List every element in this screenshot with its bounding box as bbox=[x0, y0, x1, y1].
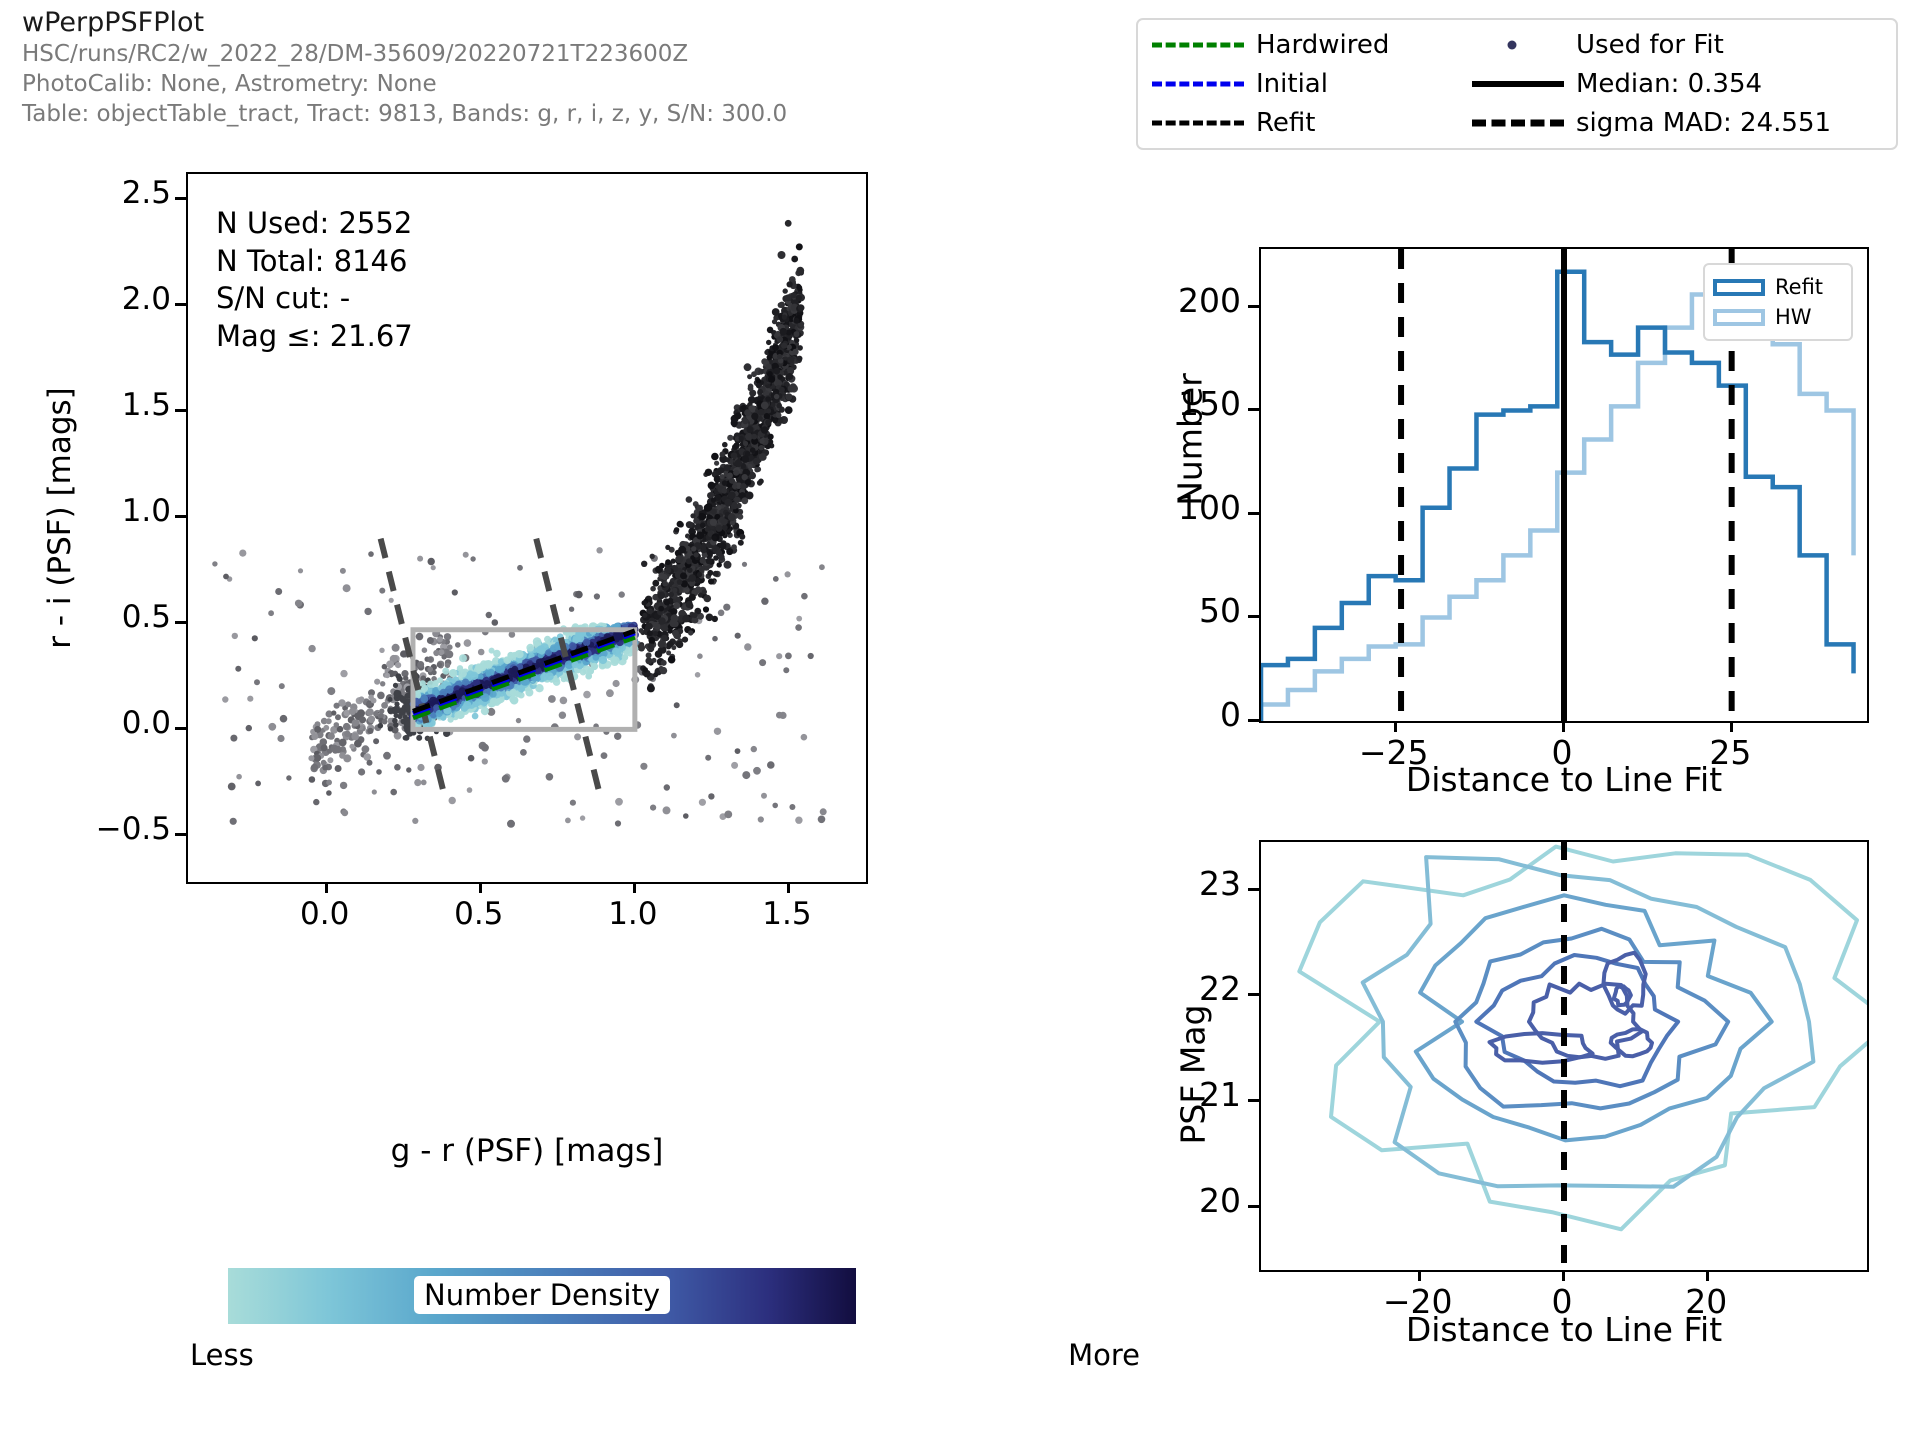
main-x-tickmark bbox=[633, 882, 636, 893]
header-subline-table: Table: objectTable_tract, Tract: 9813, B… bbox=[22, 100, 922, 130]
stat-sn-cut: S/N cut: - bbox=[216, 280, 413, 318]
histogram-y-tick: 0 bbox=[1091, 695, 1241, 734]
main-x-tick: 0.0 bbox=[250, 896, 400, 932]
main-y-tick: 2.5 bbox=[11, 175, 171, 211]
legend-label-median: Median: 0.354 bbox=[1576, 69, 1876, 99]
main-y-tick: 1.5 bbox=[11, 387, 171, 423]
main-x-tickmark bbox=[479, 882, 482, 893]
stat-n-used: N Used: 2552 bbox=[216, 205, 413, 243]
histogram-y-tickmark bbox=[1248, 305, 1259, 308]
histogram-y-tickmark bbox=[1248, 408, 1259, 411]
colorbar-low-label: Less bbox=[190, 1338, 254, 1372]
legend-key-initial bbox=[1148, 73, 1256, 95]
legend-label-hardwired: Hardwired bbox=[1256, 30, 1466, 60]
contour-y-tickmark bbox=[1248, 888, 1259, 891]
histogram-x-tickmark bbox=[1730, 721, 1733, 732]
page-title: wPerpPSFPlot bbox=[22, 6, 922, 40]
histogram-key-refit bbox=[1713, 279, 1765, 296]
contour-canvas bbox=[1261, 842, 1867, 1270]
distance-histogram-plot: Refit HW bbox=[1259, 247, 1869, 723]
main-y-tickmark bbox=[175, 727, 186, 730]
contour-x-tickmark bbox=[1706, 1270, 1709, 1281]
legend-key-hardwired bbox=[1148, 34, 1256, 56]
contour-y-tick: 23 bbox=[1091, 864, 1241, 903]
main-y-tick: 2.0 bbox=[11, 281, 171, 317]
main-x-tick: 1.0 bbox=[558, 896, 708, 932]
contour-x-tick: 0 bbox=[1487, 1282, 1637, 1321]
mag-contour-plot bbox=[1259, 840, 1869, 1272]
main-x-tick: 0.5 bbox=[404, 896, 554, 932]
contour-y-tickmark bbox=[1248, 1205, 1259, 1208]
histogram-legend: Refit HW bbox=[1703, 263, 1853, 341]
histogram-x-tick: 25 bbox=[1655, 733, 1805, 772]
legend-label-used-for-fit: Used for Fit bbox=[1576, 30, 1876, 60]
top-legend: Hardwired Used for Fit Initial Median: 0… bbox=[1136, 18, 1898, 150]
colorbar-title-wrap: Number Density bbox=[228, 1278, 856, 1312]
main-y-tick: 0.5 bbox=[11, 599, 171, 635]
main-y-tickmark bbox=[175, 303, 186, 306]
main-y-tick: 1.0 bbox=[11, 493, 171, 529]
histogram-label-hw: HW bbox=[1775, 305, 1812, 329]
colorbar-high-label: More bbox=[1010, 1338, 1140, 1372]
colorbar-title: Number Density bbox=[414, 1276, 670, 1314]
histogram-y-tickmark bbox=[1248, 615, 1259, 618]
contour-x-tick: 20 bbox=[1631, 1282, 1781, 1321]
histogram-legend-row-hw: HW bbox=[1713, 302, 1843, 332]
histogram-label-refit: Refit bbox=[1775, 275, 1823, 299]
legend-label-refit: Refit bbox=[1256, 108, 1466, 138]
legend-key-refit bbox=[1148, 112, 1256, 134]
legend-key-median bbox=[1466, 73, 1576, 95]
main-x-tick: 1.5 bbox=[712, 896, 862, 932]
stat-n-total: N Total: 8146 bbox=[216, 243, 413, 281]
main-x-tickmark bbox=[787, 882, 790, 893]
header-block: wPerpPSFPlot HSC/runs/RC2/w_2022_28/DM-3… bbox=[22, 6, 922, 129]
histogram-x-tickmark bbox=[1562, 721, 1565, 732]
histogram-y-tickmark bbox=[1248, 512, 1259, 515]
contour-x-tickmark bbox=[1418, 1270, 1421, 1281]
main-y-tickmark bbox=[175, 197, 186, 200]
contour-y-tickmark bbox=[1248, 1099, 1259, 1102]
histogram-x-tick: −25 bbox=[1319, 733, 1469, 772]
header-subline-calib: PhotoCalib: None, Astrometry: None bbox=[22, 70, 922, 100]
histogram-x-tick: 0 bbox=[1487, 733, 1637, 772]
contour-y-tick: 20 bbox=[1091, 1181, 1241, 1220]
histogram-y-tick: 200 bbox=[1091, 281, 1241, 320]
main-y-tickmark bbox=[175, 621, 186, 624]
contour-x-tick: −20 bbox=[1343, 1282, 1493, 1321]
legend-label-sigma-mad: sigma MAD: 24.551 bbox=[1576, 108, 1876, 138]
legend-key-sigma-mad bbox=[1466, 112, 1576, 134]
contour-y-tickmark bbox=[1248, 993, 1259, 996]
contour-y-tick: 22 bbox=[1091, 969, 1241, 1008]
histogram-legend-row-refit: Refit bbox=[1713, 272, 1843, 302]
histogram-y-tick: 100 bbox=[1091, 488, 1241, 527]
histogram-x-tickmark bbox=[1394, 721, 1397, 732]
header-subline-collection: HSC/runs/RC2/w_2022_28/DM-35609/20220721… bbox=[22, 40, 922, 70]
contour-y-tick: 21 bbox=[1091, 1075, 1241, 1114]
legend-key-used-for-fit bbox=[1466, 34, 1576, 56]
main-y-tickmark bbox=[175, 409, 186, 412]
main-x-tickmark bbox=[325, 882, 328, 893]
contour-x-tickmark bbox=[1562, 1270, 1565, 1281]
stats-annotation: N Used: 2552 N Total: 8146 S/N cut: - Ma… bbox=[216, 205, 413, 356]
main-x-axis-label: g - r (PSF) [mags] bbox=[186, 1133, 868, 1169]
histogram-y-tick: 50 bbox=[1091, 591, 1241, 630]
histogram-y-tick: 150 bbox=[1091, 384, 1241, 423]
histogram-key-hw bbox=[1713, 309, 1765, 326]
main-y-tickmark bbox=[175, 515, 186, 518]
main-y-tick: −0.5 bbox=[11, 811, 171, 847]
legend-label-initial: Initial bbox=[1256, 69, 1466, 99]
stat-mag-cut: Mag ≤: 21.67 bbox=[216, 318, 413, 356]
main-y-tick: 0.0 bbox=[11, 705, 171, 741]
histogram-y-tickmark bbox=[1248, 719, 1259, 722]
main-y-tickmark bbox=[175, 833, 186, 836]
histogram-y-axis-label: Number bbox=[1171, 290, 1210, 590]
